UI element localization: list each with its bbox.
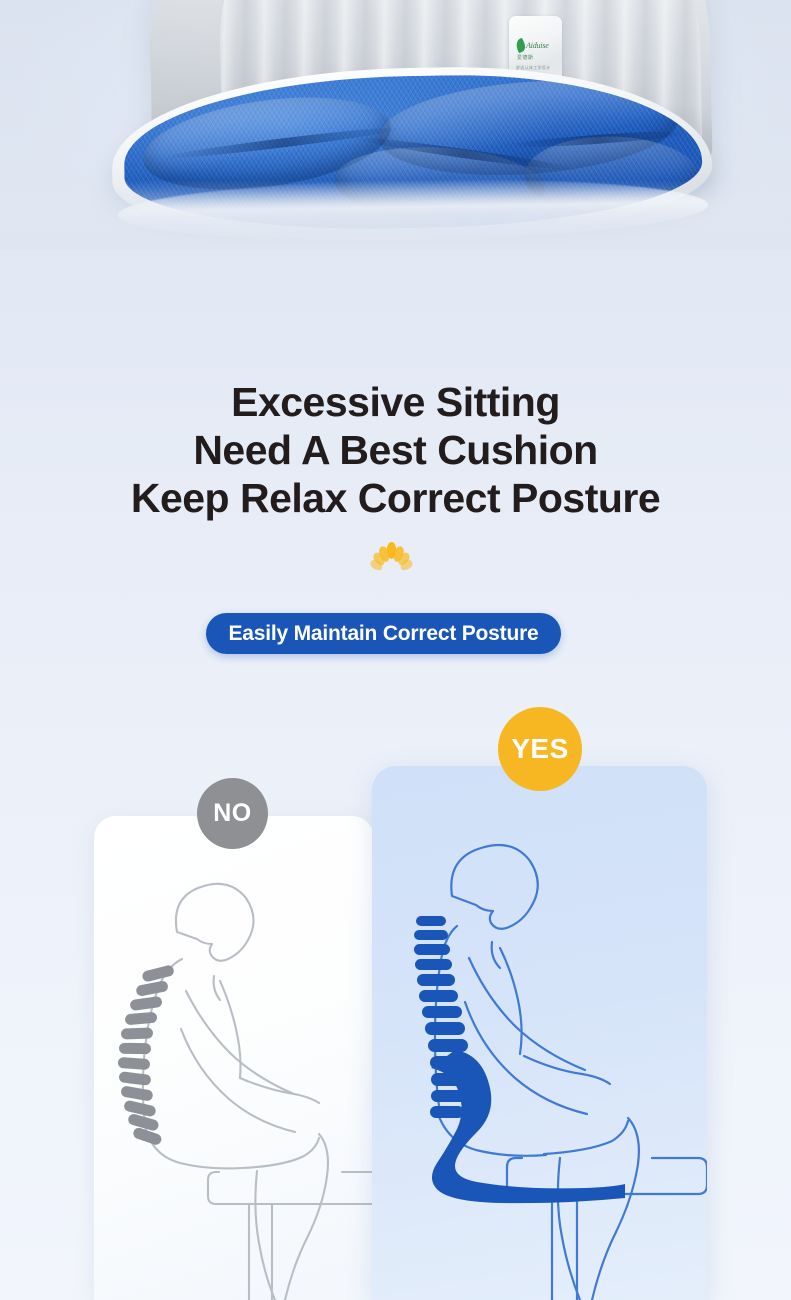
lumbar-cushion-shape: [431, 1050, 625, 1203]
headline-line-2: Need A Best Cushion: [0, 426, 791, 474]
headline-line-1: Excessive Sitting: [0, 378, 791, 426]
cta-badge[interactable]: Easily Maintain Correct Posture: [206, 613, 561, 654]
brand-script-text: Aiduise: [526, 41, 549, 50]
sunburst-icon: [357, 542, 425, 584]
brand-cn-text: 爱德斯: [517, 54, 534, 61]
hero-product-photo: Aiduise 爱德斯 舒适认体工学设计: [0, 0, 791, 250]
comparison-card-good-posture: [372, 766, 707, 1300]
page-title: Excessive Sitting Need A Best Cushion Ke…: [0, 378, 791, 522]
comparison-card-bad-posture: [94, 816, 374, 1300]
hero-fade-to-background: [0, 180, 791, 250]
badge-no: NO: [197, 778, 268, 849]
badge-yes: YES: [498, 707, 582, 791]
bad-posture-illustration: [94, 816, 374, 1300]
bad-spine-vertebrae: [118, 964, 175, 1146]
brand-leaf-icon: Aiduise: [516, 36, 556, 54]
headline-line-3: Keep Relax Correct Posture: [0, 474, 791, 522]
good-posture-illustration: [372, 766, 707, 1300]
product-marketing-page: Aiduise 爱德斯 舒适认体工学设计 Excessive Sitting N…: [0, 0, 791, 1300]
